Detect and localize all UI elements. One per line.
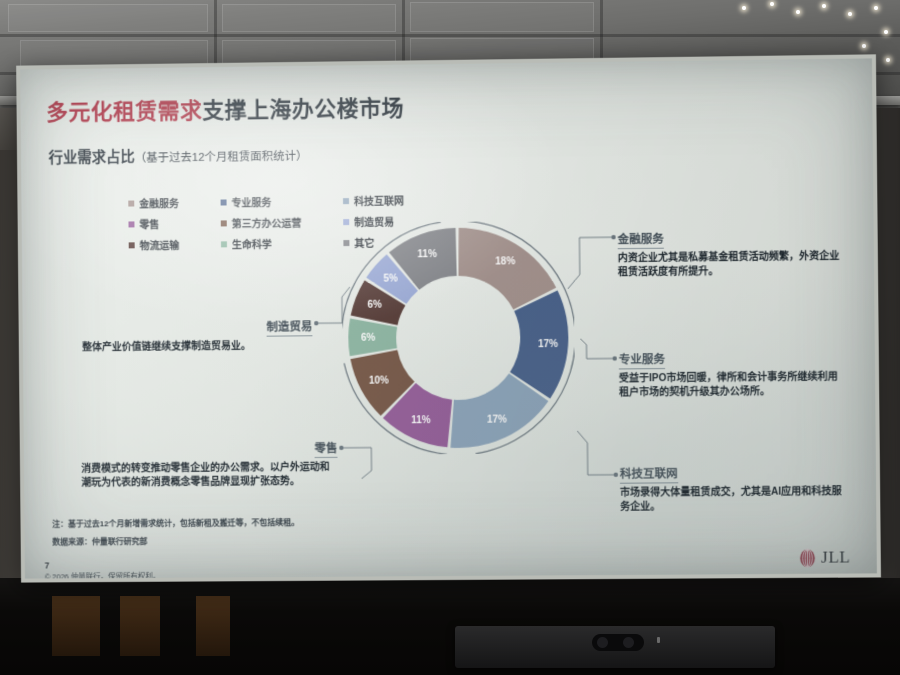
donut-slice-label: 6% [367, 300, 382, 311]
annotation-retail: 零售 消费模式的转变推动零售企业的办公需求。以户外运动和潮玩为代表的新消费概念零… [81, 439, 338, 491]
annotation-manufacturing-trade: 制造贸易 整体产业价值链继续支撑制造贸易业。 [82, 317, 313, 355]
donut-slice-label: 17% [538, 339, 558, 350]
slide-title: 多元化租赁需求支撑上海办公楼市场 [46, 91, 404, 127]
projection-screen: 多元化租赁需求支撑上海办公楼市场 行业需求占比（基于过去12个月租赁面积统计） … [16, 54, 881, 582]
legend-label: 第三方办公运营 [232, 215, 302, 231]
legend-item-flexible-office: 第三方办公运营 [221, 215, 302, 231]
legend-swatch-icon [221, 220, 227, 226]
legend-label: 金融服务 [139, 195, 179, 210]
legend-label: 科技互联网 [354, 192, 404, 208]
annotation-body: 内资企业尤其是私募基金租赁活动频繁，外资企业租赁活跃度有所提升。 [618, 249, 842, 280]
legend-label: 生命科学 [232, 236, 272, 251]
camera-indicator-icon [657, 637, 660, 643]
donut-chart-svg: 18%17%17%11%10%6%6%5%11% [341, 221, 575, 455]
wood-panel [196, 596, 230, 656]
annotation-finance: 金融服务 内资企业尤其是私募基金租赁活动频繁，外资企业租赁活跃度有所提升。 [618, 228, 842, 281]
legend-item-professional: 专业服务 [221, 194, 302, 210]
title-rest: 支撑上海办公楼市场 [202, 96, 404, 123]
legend-item-retail: 零售 [128, 216, 179, 231]
legend-swatch-icon [128, 221, 134, 227]
legend-item-logistics: 物流运输 [129, 237, 180, 252]
donut-slice-label: 6% [361, 333, 376, 344]
legend-swatch-icon [343, 198, 349, 204]
annotation-heading: 制造贸易 [266, 321, 312, 336]
page-number: 7 [45, 561, 50, 571]
legend-item-tech: 科技互联网 [343, 192, 404, 208]
jll-mark-icon [799, 548, 816, 567]
footnote-source: 数据来源：仲量联行研究部 [52, 536, 147, 548]
jll-logo: JLL [799, 547, 851, 567]
copyright-text: © 2026 仲量联行。保留所有权利。 [45, 571, 160, 579]
annotation-professional-services: 专业服务 受益于IPO市场回暖，律所和会计事务所继续利用租户市场的契机升级其办公… [619, 348, 843, 401]
annotation-technology-internet: 科技互联网 市场录得大体量租赁成交，尤其是AI应用和科技服务企业。 [620, 463, 844, 515]
donut-slice-label: 11% [411, 415, 431, 426]
legend-label: 物流运输 [140, 237, 180, 252]
annotation-heading: 金融服务 [618, 234, 664, 249]
annotation-heading: 专业服务 [619, 354, 665, 369]
wood-panel [120, 596, 160, 656]
legend-swatch-icon [221, 199, 227, 205]
legend-column: 专业服务 第三方办公运营 生命科学 [221, 194, 302, 252]
subtitle-note: （基于过去12个月租赁面积统计） [135, 151, 308, 165]
donut-slice-label: 18% [495, 256, 515, 267]
donut-slice-label: 11% [417, 249, 437, 260]
wood-panel [52, 596, 100, 656]
jll-wordmark: JLL [821, 547, 850, 567]
donut-slice-金融服务 [458, 227, 556, 310]
footnote-method: 注：基于过去12个月新增需求统计，包括新租及搬迁等，不包括续租。 [52, 517, 299, 530]
subtitle-main: 行业需求占比 [49, 150, 135, 167]
legend-label: 专业服务 [231, 194, 271, 209]
legend-swatch-icon [221, 241, 227, 247]
legend-swatch-icon [128, 200, 134, 206]
title-highlight: 多元化租赁需求 [46, 98, 202, 125]
annotation-body: 市场录得大体量租赁成交，尤其是AI应用和科技服务企业。 [620, 485, 844, 516]
annotation-body: 消费模式的转变推动零售企业的办公需求。以户外运动和潮玩为代表的新消费概念零售品牌… [81, 460, 338, 491]
donut-slice-label: 10% [369, 376, 389, 387]
camera-lens-icon [592, 634, 644, 651]
legend-label: 零售 [139, 216, 159, 231]
legend-swatch-icon [129, 242, 135, 248]
donut-slice-label: 17% [487, 415, 507, 426]
slide-subtitle: 行业需求占比（基于过去12个月租赁面积统计） [49, 144, 308, 168]
legend-item-life-science: 生命科学 [221, 236, 302, 252]
annotation-body: 受益于IPO市场回暖，律所和会计事务所继续利用租户市场的契机升级其办公场所。 [619, 370, 843, 401]
donut-chart: 18%17%17%11%10%6%6%5%11% [341, 221, 575, 455]
annotation-body: 整体产业价值链继续支撑制造贸易业。 [82, 339, 313, 356]
annotation-heading: 科技互联网 [620, 468, 678, 483]
donut-slice-label: 5% [383, 274, 398, 285]
presentation-slide: 多元化租赁需求支撑上海办公楼市场 行业需求占比（基于过去12个月租赁面积统计） … [20, 58, 877, 578]
legend-column: 金融服务 零售 物流运输 [128, 195, 179, 252]
annotation-heading: 零售 [314, 443, 337, 458]
legend-item-finance: 金融服务 [128, 195, 179, 211]
